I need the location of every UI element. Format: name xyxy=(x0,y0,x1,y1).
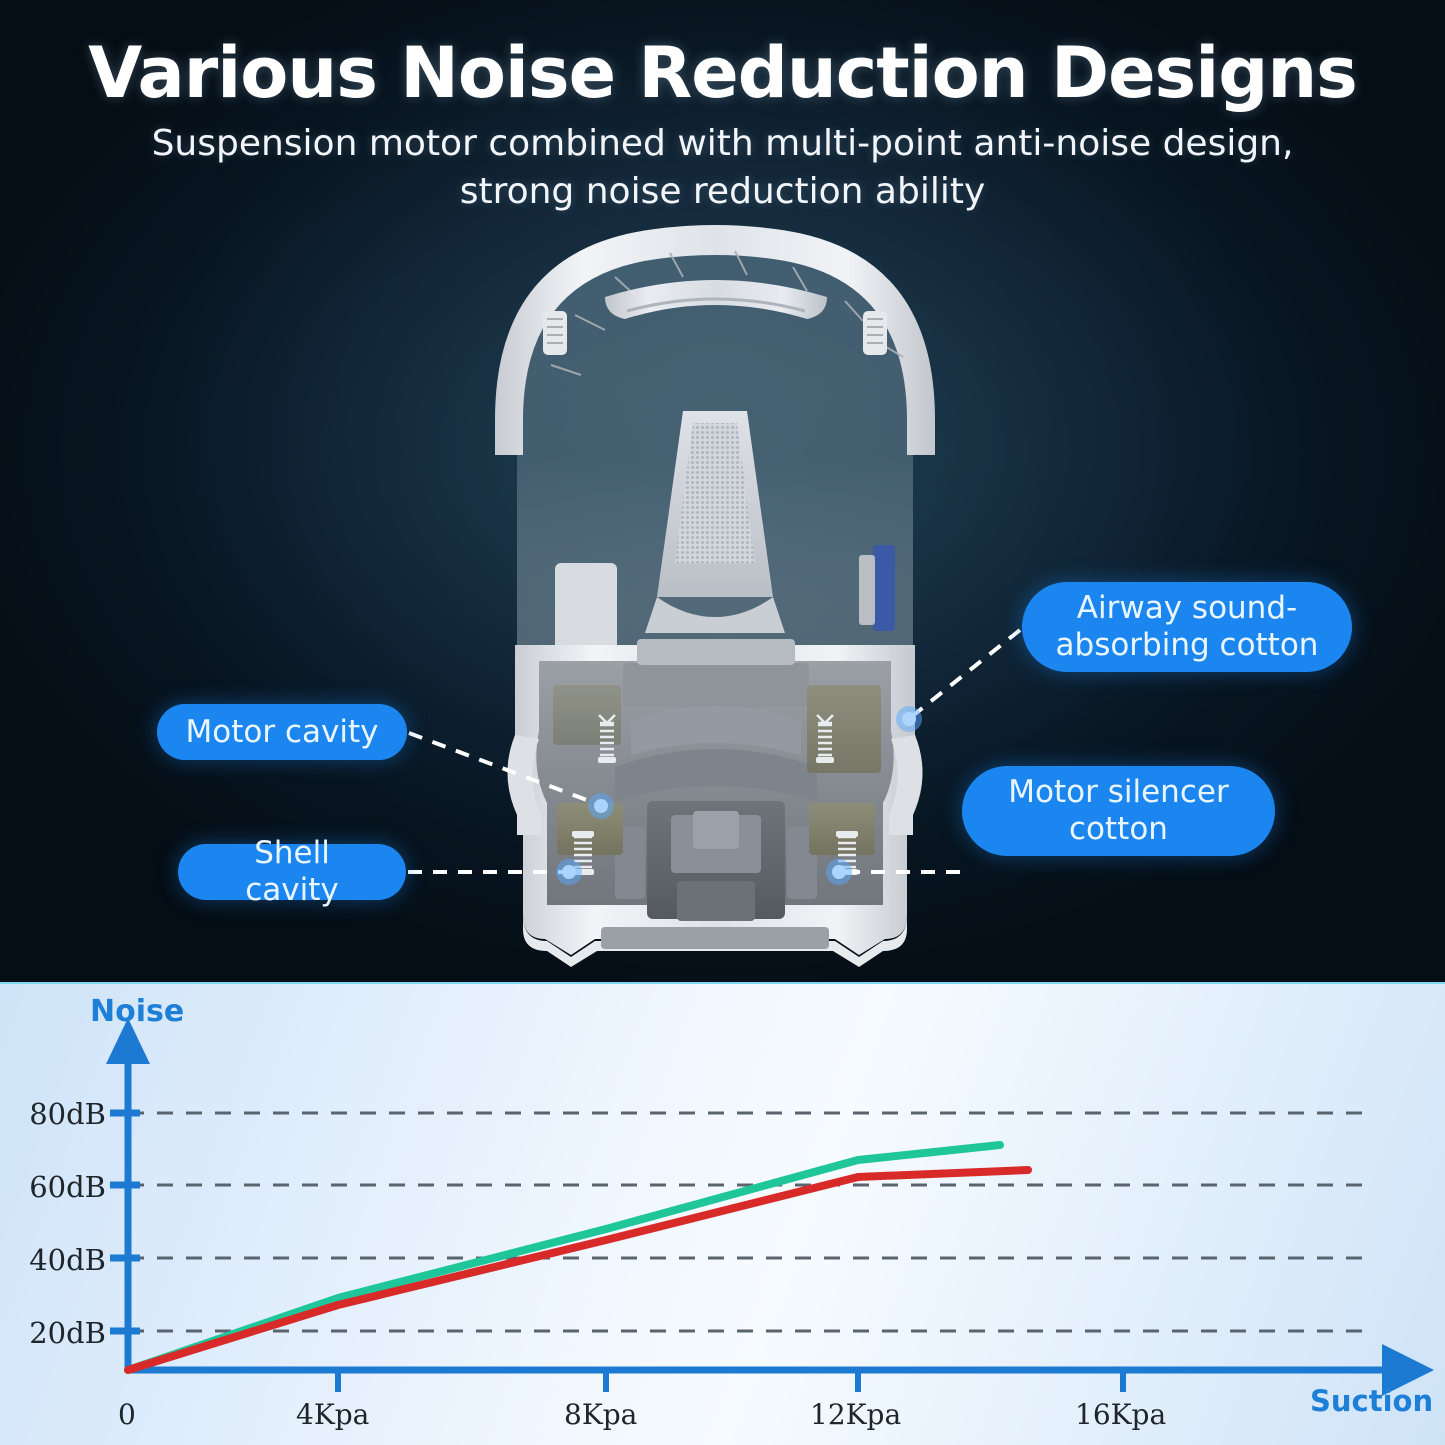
callout-motor-cavity[interactable]: Motor cavity xyxy=(157,704,407,760)
noise-vs-suction-chart: Noise Suction 80dB 60dB 40dB 20dB 0 4Kpa… xyxy=(0,982,1445,1445)
hero-section: Various Noise Reduction Designs Suspensi… xyxy=(0,0,1445,982)
callout-shell-cavity-label: Shell cavity xyxy=(204,835,380,908)
subtitle-line-1: Suspension motor combined with multi-poi… xyxy=(0,120,1445,168)
x-tick-origin: 0 xyxy=(118,1398,136,1431)
product-infographic: Various Noise Reduction Designs Suspensi… xyxy=(0,0,1445,1445)
x-tick-12kpa: 12Kpa xyxy=(810,1398,901,1431)
subtitle-line-2: strong noise reduction ability xyxy=(0,168,1445,216)
x-tick-16kpa: 16Kpa xyxy=(1075,1398,1166,1431)
callout-motor-silencer[interactable]: Motor silencer cotton xyxy=(962,766,1275,856)
series-asypets-line xyxy=(128,1170,1028,1370)
chart-gridlines xyxy=(128,1113,1370,1331)
x-axis-title: Suction xyxy=(1310,1384,1433,1418)
y-tick-60db: 60dB xyxy=(14,1170,106,1204)
page-subtitle: Suspension motor combined with multi-poi… xyxy=(0,120,1445,215)
x-tick-4kpa: 4Kpa xyxy=(296,1398,369,1431)
callout-airway-cotton[interactable]: Airway sound- absorbing cotton xyxy=(1022,582,1352,672)
page-title: Various Noise Reduction Designs xyxy=(0,32,1445,114)
product-cutaway-illustration xyxy=(455,215,975,975)
y-axis-title: Noise xyxy=(90,994,184,1029)
callout-airway-cotton-label: Airway sound- absorbing cotton xyxy=(1056,590,1319,663)
y-tick-80db: 80dB xyxy=(14,1097,106,1131)
callout-motor-silencer-label: Motor silencer cotton xyxy=(1008,774,1228,847)
y-tick-20db: 20dB xyxy=(14,1316,106,1350)
y-tick-40db: 40dB xyxy=(14,1243,106,1277)
x-tick-8kpa: 8Kpa xyxy=(564,1398,637,1431)
callout-shell-cavity[interactable]: Shell cavity xyxy=(178,844,406,900)
chart-svg xyxy=(0,984,1445,1445)
callout-motor-cavity-label: Motor cavity xyxy=(186,714,379,751)
